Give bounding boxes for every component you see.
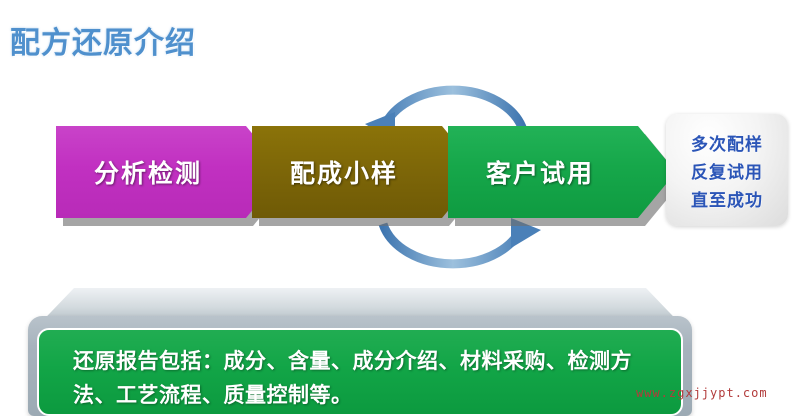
process-step-3-label: 客户试用	[486, 154, 594, 190]
page-title: 配方还原介绍	[10, 18, 196, 62]
watermark: www.zgxjjypt.com	[636, 386, 768, 400]
note-line-1: 多次配样	[691, 130, 763, 155]
slide-canvas: 配方还原介绍	[0, 0, 800, 416]
chevron-right-icon: 客户试用	[448, 126, 676, 218]
process-step-3[interactable]: 客户试用	[448, 126, 676, 218]
chevron-right-icon: 分析检测	[56, 126, 284, 218]
report-panel-text: 还原报告包括：成分、含量、成分介绍、材料采购、检测方法、工艺流程、质量控制等。	[73, 344, 663, 412]
process-step-1-label: 分析检测	[94, 154, 202, 190]
panel-green-inset: 还原报告包括：成分、含量、成分介绍、材料采购、检测方法、工艺流程、质量控制等。	[37, 328, 683, 416]
note-line-3: 直至成功	[691, 186, 763, 211]
process-step-2[interactable]: 配成小样	[252, 126, 480, 218]
note-box: 多次配样 反复试用 直至成功	[666, 114, 788, 226]
process-step-2-label: 配成小样	[290, 154, 398, 190]
note-line-2: 反复试用	[691, 158, 763, 183]
process-step-1[interactable]: 分析检测	[56, 126, 284, 218]
report-panel: 还原报告包括：成分、含量、成分介绍、材料采购、检测方法、工艺流程、质量控制等。	[28, 288, 692, 416]
chevron-right-icon: 配成小样	[252, 126, 480, 218]
process-flow: 分析检测 配成小样 客户试用	[56, 126, 656, 218]
